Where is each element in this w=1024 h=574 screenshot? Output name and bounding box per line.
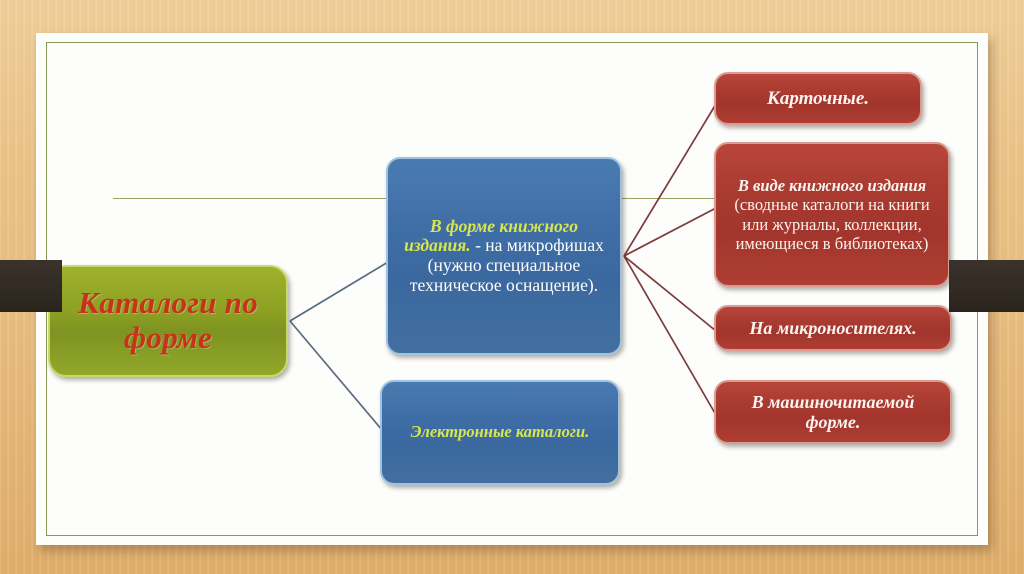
node-micromedia[interactable]: На микроносителях. [714,305,952,351]
edge-band-left [0,260,62,312]
node-book-edition-rest: (сводные каталоги на книги или журналы, … [734,195,929,252]
node-book-publication-form-text: В форме книжного издания. - на микрофиша… [388,217,620,295]
edge-band-right [949,260,1024,312]
node-micromedia-bold: На микроносителях. [749,318,916,338]
node-electronic-catalogs-highlight: Электронные каталоги. [411,422,590,441]
slide-stage: Каталоги по форме В форме книжного издан… [0,0,1024,574]
node-root-catalogs-by-form[interactable]: Каталоги по форме [48,265,288,377]
node-book-edition-bold: В виде книжного издания [738,176,926,195]
guide-line-right [618,198,724,199]
node-card-catalogs-bold: Карточные. [767,88,869,109]
node-book-edition[interactable]: В виде книжного издания (сводные каталог… [714,142,950,287]
node-machine-readable-form-text: В машиночитаемой форме. [716,392,950,432]
node-machine-readable-form[interactable]: В машиночитаемой форме. [714,380,952,444]
node-card-catalogs[interactable]: Карточные. [714,72,922,125]
node-book-edition-text: В виде книжного издания (сводные каталог… [716,176,948,253]
node-root-label: Каталоги по форме [50,286,286,355]
node-electronic-catalogs[interactable]: Электронные каталоги. [380,380,620,485]
node-book-publication-form[interactable]: В форме книжного издания. - на микрофиша… [386,157,622,355]
node-machine-readable-form-bold: В машиночитаемой форме. [752,392,915,432]
node-micromedia-text: На микроносителях. [716,318,950,338]
node-electronic-catalogs-text: Электронные каталоги. [382,423,618,441]
node-card-catalogs-text: Карточные. [716,88,920,109]
guide-line-left [113,198,389,199]
